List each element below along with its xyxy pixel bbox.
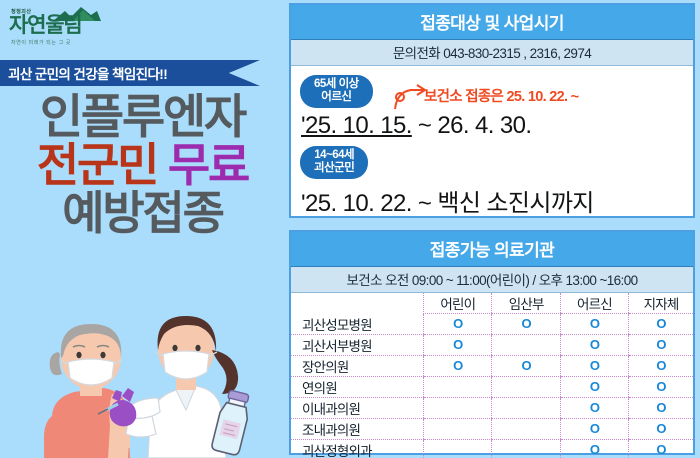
mark-local: O bbox=[656, 316, 665, 331]
target-group-elderly-period: '25. 10. 15. ~ 26. 4. 30. bbox=[301, 112, 531, 140]
facility-table: 어린이 임산부 어르신 지자체 괴산성모병원 O O O O bbox=[291, 293, 693, 458]
pill-line-2: 어르신 bbox=[314, 91, 359, 104]
mark-children-empty bbox=[424, 418, 492, 439]
facility-name: 괴산정형외과 bbox=[291, 439, 424, 458]
poster-left-column: 청정괴산 자연울림 자연이 미래가 되는 그 곳 괴산 군민의 건강을 책임진다… bbox=[0, 0, 285, 458]
mark-local: O bbox=[656, 421, 665, 436]
headline-line-1: 인플루엔자 bbox=[0, 94, 285, 139]
mark-elderly: O bbox=[590, 379, 599, 394]
facility-name: 조내과의원 bbox=[291, 418, 424, 439]
facility-name: 이내과의원 bbox=[291, 397, 424, 418]
table-row: 괴산성모병원 O O O O bbox=[291, 314, 693, 335]
target-group-elderly-pill: 65세 이상 어르신 bbox=[300, 75, 373, 108]
mark-elderly: O bbox=[590, 316, 599, 331]
mark-local: O bbox=[656, 337, 665, 352]
mark-elderly: O bbox=[590, 358, 599, 373]
goesan-logo: 청정괴산 자연울림 자연이 미래가 되는 그 곳 bbox=[9, 6, 105, 53]
headline-free-label: 무료 bbox=[168, 139, 248, 191]
mark-pregnant-empty bbox=[492, 418, 560, 439]
mark-local: O bbox=[656, 379, 665, 394]
vaccination-illustration bbox=[0, 298, 285, 458]
target-group-residents-pill: 14~64세 괴산군민 bbox=[300, 146, 368, 179]
health-center-annotation: 보건소 접종은 25. 10. 22. ~ bbox=[424, 85, 578, 106]
facility-name: 괴산서부병원 bbox=[291, 334, 424, 355]
mark-local: O bbox=[656, 400, 665, 415]
mark-pregnant: O bbox=[521, 358, 530, 373]
facility-column-local: 지자체 bbox=[629, 293, 693, 314]
facility-hours: 보건소 오전 09:00 ~ 11:00(어린이) / 오후 13:00 ~16… bbox=[291, 267, 693, 293]
mark-local: O bbox=[656, 442, 665, 457]
mark-children: O bbox=[453, 316, 462, 331]
pill-line-1: 65세 이상 bbox=[314, 78, 359, 91]
table-row: 이내과의원 O O bbox=[291, 397, 693, 418]
facility-name: 괴산성모병원 bbox=[291, 314, 424, 335]
mark-local: O bbox=[656, 358, 665, 373]
headline-free-target: 전군민 bbox=[37, 139, 157, 191]
table-row: 연의원 O O bbox=[291, 376, 693, 397]
facility-table-body: 괴산성모병원 O O O O 괴산서부병원 O O O 장안의원 bbox=[291, 314, 693, 458]
mark-elderly: O bbox=[590, 337, 599, 352]
target-group-residents: 14~64세 괴산군민 '25. 10. 22. ~ 백신 소진시까지 bbox=[291, 143, 693, 214]
headline-line-2: 전군민 무료 bbox=[0, 143, 285, 187]
poster-right-column: 접종대상 및 사업시기 문의전화 043-830-2315 , 2316, 29… bbox=[287, 0, 700, 458]
slogan-text: 괴산 군민의 건강을 책임진다!! bbox=[0, 63, 167, 83]
mark-elderly: O bbox=[590, 421, 599, 436]
pill-line-1: 14~64세 bbox=[314, 149, 354, 162]
logo-tagline: 자연이 미래가 되는 그 곳 bbox=[11, 39, 71, 46]
facility-name: 장안의원 bbox=[291, 355, 424, 376]
mark-children: O bbox=[453, 337, 462, 352]
target-group-list: 65세 이상 어르신 보건소 접종은 25. 10. 22. ~ '25. 10… bbox=[291, 66, 693, 214]
facility-panel-title: 접종가능 의료기관 bbox=[291, 232, 693, 267]
facility-column-name bbox=[291, 293, 424, 314]
period-end: ~ 26. 4. 30. bbox=[418, 112, 532, 139]
mark-pregnant: O bbox=[521, 316, 530, 331]
mark-children-empty bbox=[424, 397, 492, 418]
target-group-elderly: 65세 이상 어르신 보건소 접종은 25. 10. 22. ~ '25. 10… bbox=[291, 72, 693, 143]
pill-line-2: 괴산군민 bbox=[314, 162, 354, 175]
facility-column-pregnant: 임산부 bbox=[492, 293, 560, 314]
facility-column-elderly: 어르신 bbox=[560, 293, 628, 314]
mark-children: O bbox=[453, 358, 462, 373]
table-row: 괴산정형외과 O O bbox=[291, 439, 693, 458]
mark-pregnant-empty bbox=[492, 334, 560, 355]
period-start: '25. 10. 15. bbox=[301, 112, 412, 139]
mark-children-empty bbox=[424, 376, 492, 397]
schedule-contact-phone: 문의전화 043-830-2315 , 2316, 2974 bbox=[291, 40, 693, 66]
mark-elderly: O bbox=[590, 442, 599, 457]
mark-pregnant-empty bbox=[492, 397, 560, 418]
target-group-residents-period: '25. 10. 22. ~ 백신 소진시까지 bbox=[301, 183, 594, 218]
table-row: 괴산서부병원 O O O bbox=[291, 334, 693, 355]
mark-children-empty bbox=[424, 439, 492, 458]
schedule-panel-title: 접종대상 및 사업시기 bbox=[291, 5, 693, 40]
headline-line-3: 예방접종 bbox=[0, 191, 285, 235]
facility-column-children: 어린이 bbox=[424, 293, 492, 314]
table-row: 장안의원 O O O O bbox=[291, 355, 693, 376]
mark-pregnant-empty bbox=[492, 376, 560, 397]
period-text: '25. 10. 22. ~ 백신 소진시까지 bbox=[301, 190, 594, 217]
facility-panel: 접종가능 의료기관 보건소 오전 09:00 ~ 11:00(어린이) / 오후… bbox=[289, 230, 695, 455]
facility-name: 연의원 bbox=[291, 376, 424, 397]
slogan-ribbon: 괴산 군민의 건강을 책임진다!! bbox=[0, 60, 260, 86]
facility-table-header-row: 어린이 임산부 어르신 지자체 bbox=[291, 293, 693, 314]
page-title: 인플루엔자 전군민 무료 예방접종 bbox=[0, 94, 285, 235]
mark-elderly: O bbox=[590, 400, 599, 415]
mark-pregnant-empty bbox=[492, 439, 560, 458]
influenza-vaccination-poster: 청정괴산 자연울림 자연이 미래가 되는 그 곳 괴산 군민의 건강을 책임진다… bbox=[0, 0, 700, 458]
table-row: 조내과의원 O O bbox=[291, 418, 693, 439]
schedule-panel: 접종대상 및 사업시기 문의전화 043-830-2315 , 2316, 29… bbox=[289, 3, 695, 218]
logo-wordmark: 자연울림 bbox=[9, 15, 81, 36]
